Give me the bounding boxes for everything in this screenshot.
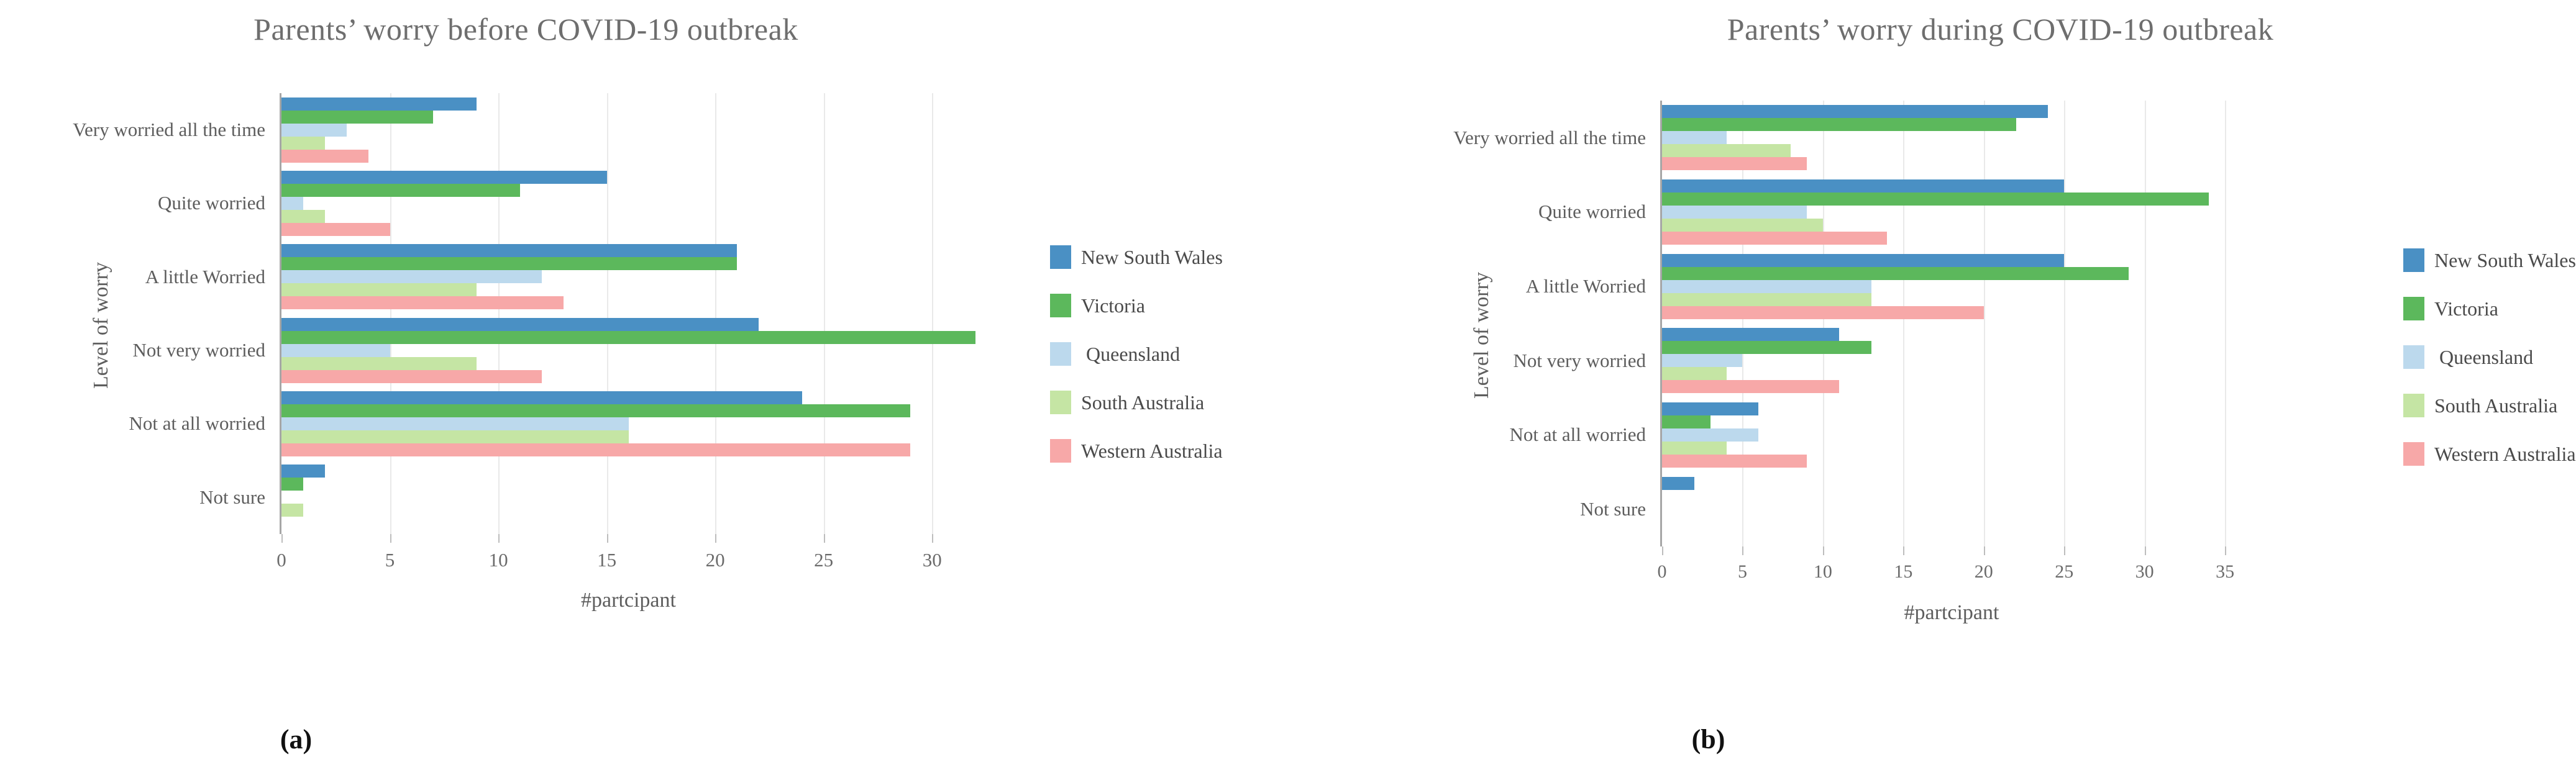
plot-area-b: 05101520253035Very worried all the timeQ… — [1660, 101, 2241, 546]
bar-qld — [1662, 280, 1871, 293]
bar-vic — [1662, 193, 2209, 206]
category-group: A little Worried — [281, 240, 1050, 314]
category-group: Not very worried — [1662, 324, 2316, 398]
bar-sa — [1662, 293, 1871, 306]
y-axis-category-label: A little Worried — [145, 266, 265, 288]
x-axis-tick — [2145, 546, 2146, 555]
x-axis-tick-label: 15 — [1894, 561, 1912, 582]
y-axis-category-label: Not very worried — [133, 339, 266, 361]
bar-vic — [1662, 341, 1871, 354]
x-axis-tick — [1742, 546, 1743, 555]
bar-qld — [281, 344, 390, 357]
x-axis-tick-label: 30 — [2135, 561, 2154, 582]
bar-wa — [1662, 157, 1807, 170]
x-axis-tick-label: 20 — [1975, 561, 1993, 582]
bar-wa — [281, 296, 564, 309]
x-axis-title: #partcipant — [581, 589, 676, 612]
y-axis-title: Level of worry — [1470, 272, 1494, 399]
category-group: Quite worried — [1662, 175, 2316, 250]
bar-qld — [1662, 428, 1758, 442]
x-axis-tick-label: 10 — [489, 549, 508, 571]
bar-wa — [281, 370, 542, 383]
category-group: Quite worried — [281, 166, 1050, 240]
x-axis-tick-label: 15 — [597, 549, 616, 571]
bar-nsw — [1662, 254, 2064, 267]
bar-wa — [1662, 306, 1984, 319]
legend-label: Victoria — [1081, 294, 1145, 317]
bar-nsw — [281, 244, 737, 257]
x-axis-tick-label: 10 — [1814, 561, 1832, 582]
bar-nsw — [1662, 402, 1758, 415]
category-group: Not at all worried — [281, 387, 1050, 460]
bar-sa — [1662, 367, 1727, 380]
x-axis-tick — [2064, 546, 2065, 555]
legend-swatch-vic — [2403, 297, 2424, 320]
y-axis-category-label: Not very worried — [1514, 350, 1647, 372]
bar-nsw — [1662, 477, 1694, 490]
x-axis-tick-label: 20 — [706, 549, 725, 571]
y-axis-title: Level of worry — [89, 262, 113, 389]
bar-vic — [281, 404, 910, 417]
bar-nsw — [1662, 328, 1839, 341]
legend-swatch-sa — [1050, 391, 1071, 414]
legend-item[interactable]: New South Wales — [1050, 233, 1223, 281]
category-group: Very worried all the time — [1662, 101, 2316, 175]
x-axis-tick-label: 30 — [923, 549, 942, 571]
category-group: Not at all worried — [1662, 398, 2316, 473]
category-group: Not sure — [1662, 472, 2316, 546]
bar-wa — [1662, 232, 1887, 245]
bar-vic — [281, 331, 975, 344]
x-axis-tick — [932, 534, 933, 543]
x-axis-tick — [607, 534, 608, 543]
legend-item[interactable]: New South Wales — [2403, 236, 2576, 284]
bar-nsw — [281, 465, 325, 478]
panel-b: Parents’ worry during COVID-19 outbreak … — [1288, 0, 2576, 775]
legend-swatch-wa — [2403, 442, 2424, 466]
x-axis-tick — [498, 534, 500, 543]
x-axis-tick — [1823, 546, 1824, 555]
bar-sa — [1662, 442, 1727, 455]
y-axis-category-label: Quite worried — [158, 192, 265, 214]
legend-label: South Australia — [2434, 394, 2557, 417]
legend-swatch-nsw — [2403, 248, 2424, 272]
x-axis-tick — [281, 534, 283, 543]
bar-nsw — [281, 171, 607, 184]
legend-label: Queensland — [2434, 346, 2533, 369]
panel-caption-a: (a) — [0, 723, 940, 755]
bar-vic — [281, 184, 520, 197]
bar-nsw — [281, 97, 477, 111]
legend-item[interactable]: South Australia — [2403, 381, 2576, 430]
bar-wa — [281, 150, 368, 163]
bar-qld — [1662, 206, 1807, 219]
y-axis-category-label: Very worried all the time — [1453, 127, 1646, 149]
x-axis-tick-label: 5 — [1738, 561, 1747, 582]
bar-wa — [281, 223, 390, 236]
bar-qld — [281, 270, 542, 283]
bar-qld — [1662, 354, 1742, 367]
bar-sa — [281, 357, 477, 370]
y-axis-category-label: A little Worried — [1526, 275, 1646, 297]
legend-item[interactable]: South Australia — [1050, 378, 1223, 427]
bar-vic — [281, 257, 737, 270]
legend-label: South Australia — [1081, 391, 1204, 414]
x-axis-title: #partcipant — [1904, 601, 1999, 625]
legend-label: New South Wales — [1081, 246, 1223, 269]
y-axis-category-label: Not at all worried — [1509, 424, 1646, 446]
legend-label: Queensland — [1081, 343, 1180, 366]
x-axis-tick — [824, 534, 825, 543]
x-axis-tick-label: 5 — [385, 549, 395, 571]
x-axis-tick — [1662, 546, 1663, 555]
y-axis-category-label: Quite worried — [1538, 201, 1646, 223]
x-axis-tick-label: 25 — [814, 549, 833, 571]
legend-item[interactable]: Western Australia — [2403, 430, 2576, 478]
panel-caption-b: (b) — [1064, 723, 2352, 755]
legend-item[interactable]: Victoria — [1050, 281, 1223, 330]
legend-label: New South Wales — [2434, 249, 2576, 272]
legend-swatch-wa — [1050, 439, 1071, 463]
bar-sa — [1662, 144, 1791, 157]
y-axis-category-label: Not sure — [1580, 498, 1646, 520]
legend-swatch-vic — [1050, 294, 1071, 317]
plot-area-a: 051015202530Very worried all the timeQui… — [280, 93, 975, 534]
bar-vic — [281, 111, 433, 124]
bar-vic — [281, 478, 303, 491]
legend-swatch-qld — [1050, 342, 1071, 366]
bar-sa — [281, 137, 325, 150]
bar-wa — [281, 443, 910, 456]
x-axis-tick — [1903, 546, 1904, 555]
x-axis-tick-label: 25 — [2055, 561, 2073, 582]
x-axis-tick — [2225, 546, 2226, 555]
category-group: Not very worried — [281, 314, 1050, 387]
y-axis-category-label: Not sure — [199, 486, 265, 509]
legend-item[interactable]: Queensland — [2403, 333, 2576, 381]
legend-item[interactable]: Victoria — [2403, 284, 2576, 333]
category-group: Not sure — [281, 461, 1050, 534]
bar-qld — [281, 124, 347, 137]
bar-wa — [1662, 380, 1839, 393]
bar-sa — [281, 504, 303, 517]
legend-item[interactable]: Queensland — [1050, 330, 1223, 378]
bar-sa — [281, 283, 477, 296]
category-group: Very worried all the time — [281, 93, 1050, 166]
bar-nsw — [1662, 179, 2064, 193]
legend-item[interactable]: Western Australia — [1050, 427, 1223, 475]
bar-nsw — [281, 318, 759, 331]
bar-vic — [1662, 415, 1710, 428]
x-axis-tick — [715, 534, 716, 543]
legend-swatch-qld — [2403, 345, 2424, 369]
category-group: A little Worried — [1662, 249, 2316, 324]
x-axis-tick-label: 0 — [276, 549, 286, 571]
chart-title-a: Parents’ worry before COVID-19 outbreak — [0, 11, 1170, 47]
bar-sa — [281, 210, 325, 223]
x-axis-tick-label: 0 — [1658, 561, 1667, 582]
legend-a: New South WalesVictoria QueenslandSouth … — [1050, 233, 1223, 475]
y-axis-category-label: Very worried all the time — [73, 119, 265, 141]
figure-root: Parents’ worry before COVID-19 outbreak … — [0, 0, 2576, 775]
chart-title-b: Parents’ worry during COVID-19 outbreak — [1356, 11, 2576, 47]
x-axis-tick — [390, 534, 391, 543]
bar-nsw — [281, 391, 802, 404]
legend-label: Victoria — [2434, 297, 2498, 320]
bar-sa — [281, 430, 629, 443]
y-axis-category-label: Not at all worried — [129, 412, 265, 435]
bar-vic — [1662, 118, 2016, 131]
bar-qld — [281, 417, 629, 430]
bar-nsw — [1662, 105, 2048, 118]
bar-vic — [1662, 267, 2129, 280]
legend-label: Western Australia — [1081, 440, 1223, 463]
bar-qld — [1662, 131, 1727, 144]
legend-label: Western Australia — [2434, 443, 2576, 466]
legend-b: New South WalesVictoria QueenslandSouth … — [2403, 236, 2576, 478]
x-axis-tick-label: 35 — [2216, 561, 2234, 582]
x-axis-tick — [1984, 546, 1985, 555]
bar-sa — [1662, 219, 1823, 232]
panel-a: Parents’ worry before COVID-19 outbreak … — [0, 0, 1288, 775]
legend-swatch-nsw — [1050, 245, 1071, 269]
bar-qld — [281, 197, 303, 210]
bar-wa — [1662, 455, 1807, 468]
legend-swatch-sa — [2403, 394, 2424, 417]
